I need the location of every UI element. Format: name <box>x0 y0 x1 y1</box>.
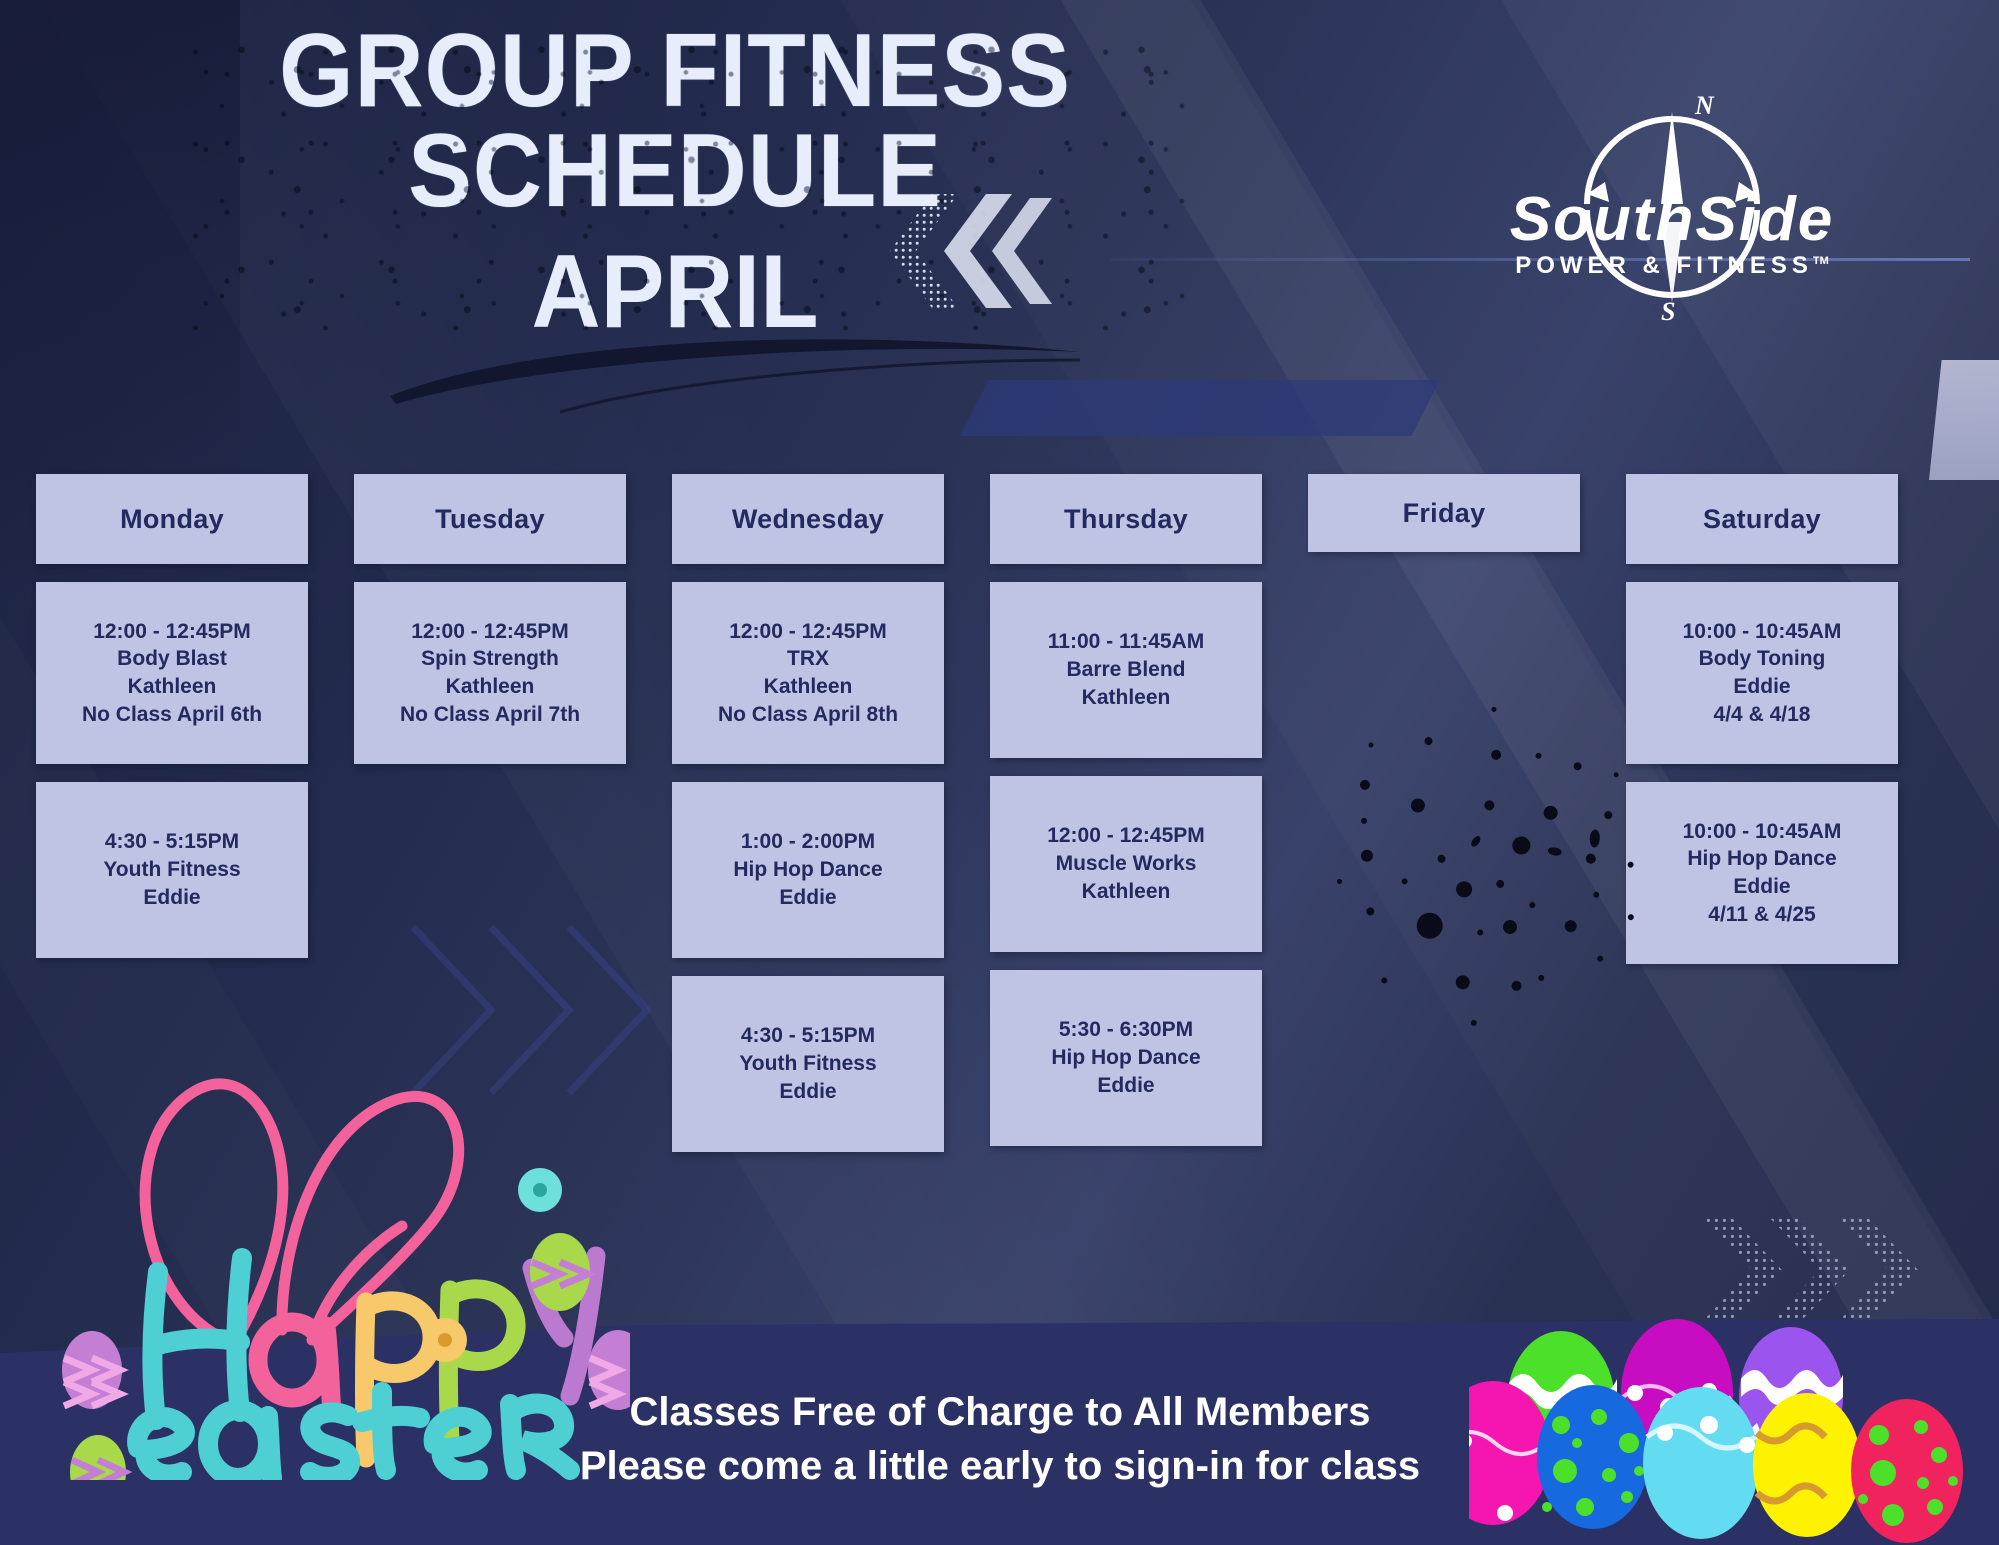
class-time: 1:00 - 2:00PM <box>678 828 938 856</box>
class-instructor: Eddie <box>1632 673 1892 701</box>
class-card[interactable]: 12:00 - 12:45PMMuscle WorksKathleen <box>990 776 1262 952</box>
class-time: 4:30 - 5:15PM <box>42 828 302 856</box>
compass-south-label: S <box>1661 297 1675 322</box>
footer-line-1: Classes Free of Charge to All Members <box>520 1385 1480 1439</box>
brush-swoosh-decoration <box>380 330 1100 420</box>
class-time: 12:00 - 12:45PM <box>678 618 938 646</box>
class-note: No Class April 7th <box>360 701 620 729</box>
page-title-block: GROUP FITNESS SCHEDULE APRIL <box>0 22 1350 344</box>
class-time: 12:00 - 12:45PM <box>996 822 1256 850</box>
class-title: Youth Fitness <box>42 856 302 884</box>
page-title: GROUP FITNESS SCHEDULE <box>54 22 1296 222</box>
day-column-thursday: Thursday11:00 - 11:45AMBarre BlendKathle… <box>990 474 1262 1146</box>
class-instructor: Eddie <box>678 884 938 912</box>
corner-tab-shape <box>1929 360 1999 480</box>
happy-easter-graphic <box>30 1040 630 1480</box>
class-title: Body Toning <box>1632 645 1892 673</box>
class-title: Hip Hop Dance <box>996 1044 1256 1072</box>
class-title: Barre Blend <box>996 656 1256 684</box>
fitness-schedule-poster: GROUP FITNESS SCHEDULE APRIL N <box>0 0 1999 1545</box>
class-instructor: Kathleen <box>996 684 1256 712</box>
class-instructor: Kathleen <box>996 878 1256 906</box>
class-note: No Class April 6th <box>42 701 302 729</box>
class-instructor: Kathleen <box>678 673 938 701</box>
class-instructor: Eddie <box>996 1072 1256 1100</box>
class-title: Hip Hop Dance <box>678 856 938 884</box>
class-title: Youth Fitness <box>678 1050 938 1078</box>
day-column-saturday: Saturday10:00 - 10:45AMBody ToningEddie4… <box>1626 474 1898 964</box>
class-card[interactable]: 4:30 - 5:15PMYouth FitnessEddie <box>672 976 944 1152</box>
class-time: 4:30 - 5:15PM <box>678 1022 938 1050</box>
day-header-tuesday: Tuesday <box>354 474 626 564</box>
class-time: 12:00 - 12:45PM <box>360 618 620 646</box>
brand-logo: N S SouthSide POWER & FITNESSTM <box>1437 52 1907 322</box>
class-time: 10:00 - 10:45AM <box>1632 618 1892 646</box>
easter-eggs-cluster <box>1469 1275 1989 1545</box>
class-card[interactable]: 12:00 - 12:45PMTRXKathleenNo Class April… <box>672 582 944 764</box>
brand-name-part1: South <box>1510 185 1696 254</box>
brand-tagline: POWER & FITNESSTM <box>1437 252 1907 280</box>
halftone-chevron-icon <box>880 192 1060 310</box>
day-column-tuesday: Tuesday12:00 - 12:45PMSpin StrengthKathl… <box>354 474 626 764</box>
class-instructor: Kathleen <box>42 673 302 701</box>
class-card[interactable]: 5:30 - 6:30PMHip Hop DanceEddie <box>990 970 1262 1146</box>
class-title: Spin Strength <box>360 645 620 673</box>
class-time: 10:00 - 10:45AM <box>1632 818 1892 846</box>
class-title: Body Blast <box>42 645 302 673</box>
class-title: TRX <box>678 645 938 673</box>
class-card[interactable]: 10:00 - 10:45AMHip Hop DanceEddie4/11 & … <box>1626 782 1898 964</box>
class-instructor: Eddie <box>1632 873 1892 901</box>
footer-line-2: Please come a little early to sign-in fo… <box>520 1439 1480 1493</box>
day-column-wednesday: Wednesday12:00 - 12:45PMTRXKathleenNo Cl… <box>672 474 944 1152</box>
class-card[interactable]: 10:00 - 10:45AMBody ToningEddie4/4 & 4/1… <box>1626 582 1898 764</box>
month-subtitle: APRIL <box>54 240 1296 344</box>
brand-name: SouthSide <box>1437 184 1907 255</box>
class-card[interactable]: 4:30 - 5:15PMYouth FitnessEddie <box>36 782 308 958</box>
day-header-saturday: Saturday <box>1626 474 1898 564</box>
brand-tagline-text: POWER & FITNESS <box>1515 252 1813 279</box>
class-time: 5:30 - 6:30PM <box>996 1016 1256 1044</box>
class-note: No Class April 8th <box>678 701 938 729</box>
brand-name-part2: Side <box>1695 185 1834 254</box>
class-note: 4/4 & 4/18 <box>1632 701 1892 729</box>
day-header-thursday: Thursday <box>990 474 1262 564</box>
day-header-wednesday: Wednesday <box>672 474 944 564</box>
compass-north-label: N <box>1694 91 1715 120</box>
class-note: 4/11 & 4/25 <box>1632 901 1892 929</box>
class-instructor: Eddie <box>42 884 302 912</box>
class-title: Muscle Works <box>996 850 1256 878</box>
class-card[interactable]: 11:00 - 11:45AMBarre BlendKathleen <box>990 582 1262 758</box>
day-header-friday: Friday <box>1308 474 1580 552</box>
class-instructor: Eddie <box>678 1078 938 1106</box>
class-time: 12:00 - 12:45PM <box>42 618 302 646</box>
footer-message: Classes Free of Charge to All Members Pl… <box>520 1385 1480 1493</box>
class-title: Hip Hop Dance <box>1632 845 1892 873</box>
day-column-friday: Friday <box>1308 474 1580 552</box>
day-header-monday: Monday <box>36 474 308 564</box>
class-time: 11:00 - 11:45AM <box>996 628 1256 656</box>
trademark-mark: TM <box>1813 255 1829 267</box>
class-card[interactable]: 12:00 - 12:45PMSpin StrengthKathleenNo C… <box>354 582 626 764</box>
class-card[interactable]: 12:00 - 12:45PMBody BlastKathleenNo Clas… <box>36 582 308 764</box>
day-column-monday: Monday12:00 - 12:45PMBody BlastKathleenN… <box>36 474 308 958</box>
class-card[interactable]: 1:00 - 2:00PMHip Hop DanceEddie <box>672 782 944 958</box>
class-instructor: Kathleen <box>360 673 620 701</box>
